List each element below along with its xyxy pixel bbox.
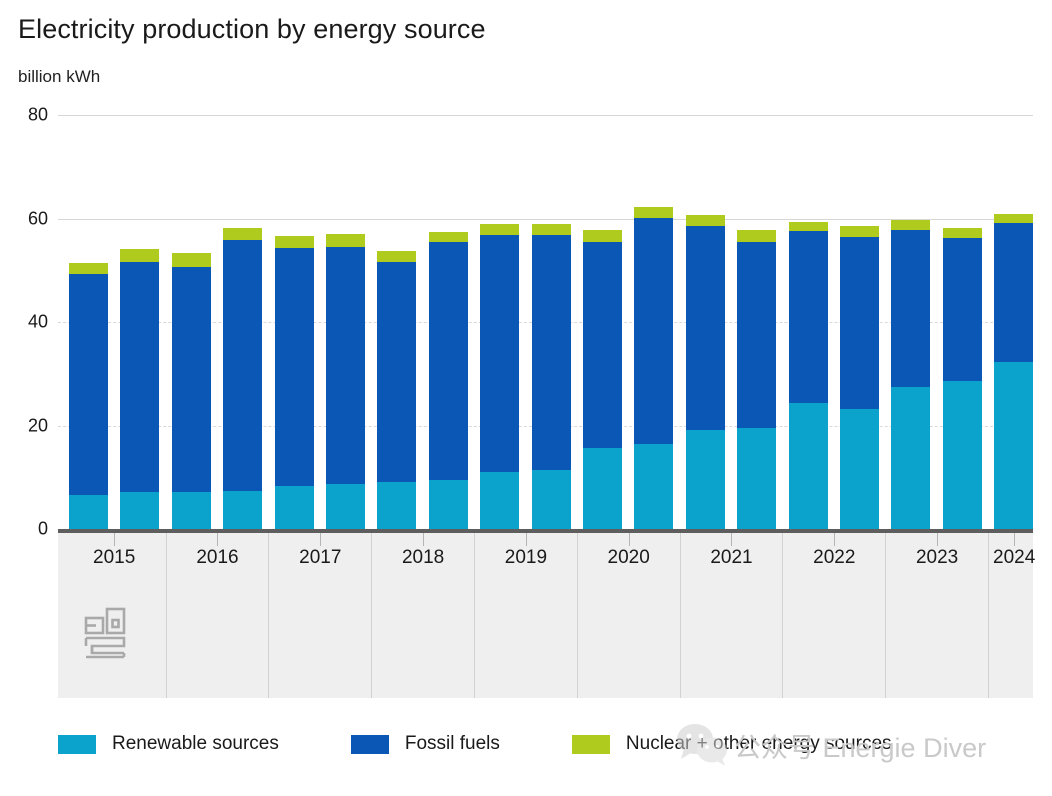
bar-segment-renewable [172, 492, 211, 529]
x-axis-year-2018: 2018 [371, 533, 474, 698]
bar-2016-h2[interactable] [223, 228, 262, 529]
x-axis-label: 2021 [681, 547, 783, 569]
x-axis-year-2024: 2024 [988, 533, 1039, 698]
bar-2019-h2[interactable] [532, 224, 571, 529]
x-axis-tick [731, 533, 732, 546]
legend-item-nuclear[interactable]: Nuclear + other energy sources [572, 733, 892, 755]
x-axis-label: 2020 [578, 547, 680, 569]
legend-label-nuclear: Nuclear + other energy sources [626, 733, 892, 755]
bar-segment-fossil [943, 238, 982, 381]
x-axis-tick [1014, 533, 1015, 546]
bar-segment-renewable [223, 491, 262, 529]
bar-segment-nuclear [120, 249, 159, 262]
bar-segment-fossil [737, 242, 776, 428]
legend-swatch-nuclear [572, 735, 610, 754]
x-axis-label: 2022 [783, 547, 885, 569]
bar-2022-h2[interactable] [840, 226, 879, 529]
bar-segment-fossil [223, 240, 262, 490]
bar-segment-nuclear [634, 207, 673, 218]
bar-segment-nuclear [840, 226, 879, 237]
bar-segment-renewable [634, 444, 673, 529]
bar-2020-h1[interactable] [583, 230, 622, 529]
x-axis-tick [320, 533, 321, 546]
x-axis-year-2019: 2019 [474, 533, 577, 698]
x-axis-label: 2023 [886, 547, 988, 569]
page-title: Electricity production by energy source [18, 14, 486, 45]
bar-segment-renewable [994, 362, 1033, 529]
bar-segment-fossil [429, 242, 468, 480]
legend-item-fossil[interactable]: Fossil fuels [351, 733, 500, 755]
bar-segment-nuclear [737, 230, 776, 241]
x-axis-year-2021: 2021 [680, 533, 783, 698]
x-axis-year-2015: 2015 [63, 533, 166, 698]
x-axis-panel: 2015201620172018201920202021202220232024 [58, 533, 1033, 698]
bar-2018-h2[interactable] [429, 232, 468, 529]
x-axis-label: 2016 [167, 547, 269, 569]
legend-label-fossil: Fossil fuels [405, 733, 500, 755]
y-tick-label: 20 [4, 415, 48, 436]
legend-swatch-renewable [58, 735, 96, 754]
bar-segment-renewable [686, 430, 725, 529]
bars-layer [58, 115, 1033, 529]
bar-2024-h1[interactable] [994, 214, 1033, 529]
bar-2021-h2[interactable] [737, 230, 776, 529]
bar-2015-h1[interactable] [69, 263, 108, 529]
bar-segment-renewable [840, 409, 879, 529]
bar-2021-h1[interactable] [686, 215, 725, 529]
bar-segment-fossil [326, 247, 365, 484]
bar-segment-renewable [737, 428, 776, 529]
y-tick-label: 40 [4, 312, 48, 333]
bar-segment-fossil [994, 223, 1033, 362]
bar-segment-nuclear [789, 222, 828, 231]
bar-segment-nuclear [69, 263, 108, 274]
legend-swatch-fossil [351, 735, 389, 754]
bar-segment-renewable [891, 387, 930, 529]
bar-segment-nuclear [480, 224, 519, 235]
plot-area [58, 115, 1033, 529]
bar-segment-fossil [377, 262, 416, 482]
bar-segment-fossil [789, 231, 828, 403]
bar-segment-fossil [275, 248, 314, 486]
bar-segment-renewable [377, 482, 416, 529]
bar-segment-fossil [891, 230, 930, 387]
bar-segment-renewable [532, 470, 571, 529]
bar-segment-nuclear [326, 234, 365, 247]
bar-2017-h1[interactable] [275, 236, 314, 529]
bar-segment-nuclear [275, 236, 314, 248]
bar-segment-nuclear [994, 214, 1033, 223]
x-axis-tick [629, 533, 630, 546]
x-axis-tick [114, 533, 115, 546]
bar-segment-nuclear [943, 228, 982, 238]
bar-segment-renewable [943, 381, 982, 529]
x-axis-year-2017: 2017 [268, 533, 371, 698]
x-axis-year-2016: 2016 [166, 533, 269, 698]
y-axis: 020406080 [0, 115, 48, 529]
bar-segment-fossil [634, 218, 673, 444]
bar-2019-h1[interactable] [480, 224, 519, 529]
legend: Renewable sourcesFossil fuelsNuclear + o… [58, 733, 964, 755]
y-tick-label: 60 [4, 208, 48, 229]
bar-2023-h2[interactable] [943, 228, 982, 529]
x-axis-label: 2018 [372, 547, 474, 569]
x-axis-tick [526, 533, 527, 546]
bar-segment-renewable [326, 484, 365, 529]
bar-segment-renewable [275, 486, 314, 529]
x-axis-label: 2015 [63, 547, 166, 569]
bar-segment-renewable [480, 472, 519, 529]
x-axis-label: 2017 [269, 547, 371, 569]
bar-2022-h1[interactable] [789, 222, 828, 529]
bar-segment-nuclear [583, 230, 622, 242]
bar-segment-renewable [429, 480, 468, 529]
x-axis-label: 2019 [475, 547, 577, 569]
bar-segment-nuclear [429, 232, 468, 242]
x-axis-label: 2024 [989, 547, 1039, 569]
bar-segment-renewable [69, 495, 108, 529]
bar-2020-h2[interactable] [634, 207, 673, 529]
bar-segment-fossil [840, 237, 879, 409]
bar-segment-fossil [480, 235, 519, 472]
bar-segment-nuclear [172, 253, 211, 266]
y-tick-label: 0 [4, 519, 48, 540]
bar-segment-nuclear [532, 224, 571, 235]
x-axis-year-2020: 2020 [577, 533, 680, 698]
x-axis-tick [423, 533, 424, 546]
bar-segment-nuclear [686, 215, 725, 226]
bar-segment-fossil [532, 235, 571, 470]
bar-2017-h2[interactable] [326, 234, 365, 529]
bar-2018-h1[interactable] [377, 251, 416, 529]
bar-segment-renewable [789, 403, 828, 529]
bar-segment-nuclear [223, 228, 262, 240]
chart-container: Electricity production by energy source … [0, 0, 1052, 796]
chart-subtitle: billion kWh [18, 67, 100, 87]
bar-segment-nuclear [891, 220, 930, 230]
bar-segment-nuclear [377, 251, 416, 262]
x-axis-tick [937, 533, 938, 546]
y-tick-label: 80 [4, 105, 48, 126]
bar-segment-fossil [172, 267, 211, 493]
bar-segment-fossil [686, 226, 725, 429]
x-axis-tick [834, 533, 835, 546]
legend-label-renewable: Renewable sources [112, 733, 279, 755]
bar-2016-h1[interactable] [172, 253, 211, 529]
x-axis-year-2023: 2023 [885, 533, 988, 698]
bar-segment-fossil [583, 242, 622, 448]
x-axis-tick [217, 533, 218, 546]
bar-segment-fossil [120, 262, 159, 492]
bar-2023-h1[interactable] [891, 220, 930, 529]
bar-2015-h2[interactable] [120, 249, 159, 529]
bar-segment-renewable [583, 448, 622, 529]
x-axis-year-2022: 2022 [782, 533, 885, 698]
bar-segment-renewable [120, 492, 159, 529]
legend-item-renewable[interactable]: Renewable sources [58, 733, 279, 755]
bar-segment-fossil [69, 274, 108, 495]
